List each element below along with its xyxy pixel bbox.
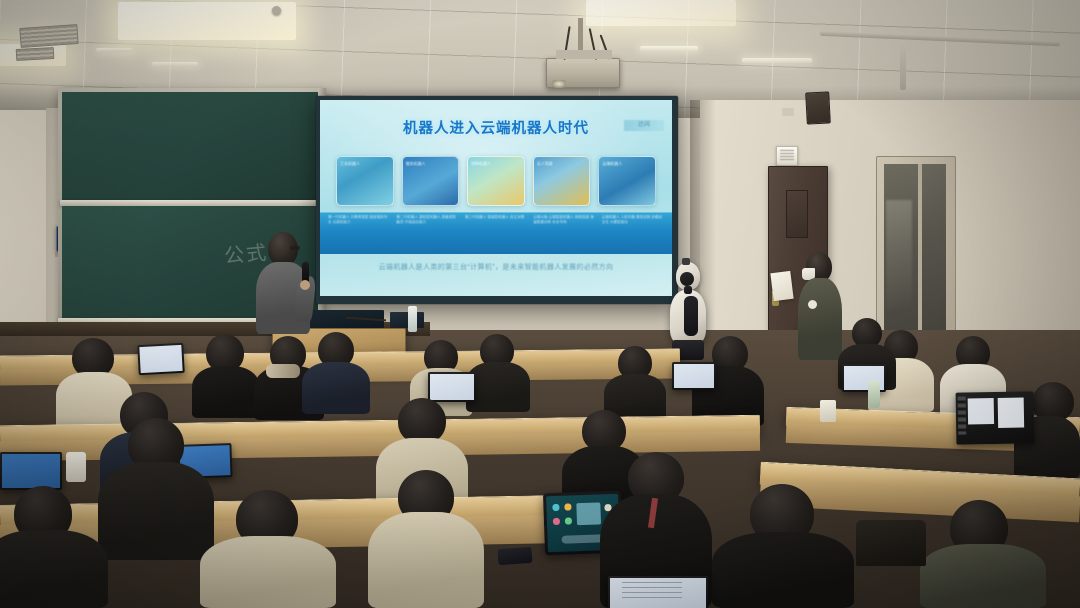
laptop-far-1-screen xyxy=(139,345,182,373)
slide-card-4-caption: 无人驾驶 xyxy=(537,161,587,166)
slide-title: 机器人进入云端机器人时代 xyxy=(320,117,672,138)
projected-slide: 机器人进入云端机器人时代 达闼 工业机器人 服务机器人 特种机器人 无人驾驶 云… xyxy=(320,100,672,296)
robot-chest-panel xyxy=(684,296,698,336)
laptop-right-doc-2 xyxy=(998,397,1025,427)
ceiling-light-panel-1 xyxy=(118,2,296,40)
student-body-f4 xyxy=(302,362,370,414)
tablet-icon-4[interactable] xyxy=(565,517,572,524)
ceiling-conduit-2 xyxy=(900,40,906,90)
laptop-middle-2[interactable] xyxy=(0,452,62,490)
sign-text-lines xyxy=(780,150,794,162)
ceiling-air-vent xyxy=(19,24,78,48)
laptop-right-two-docs[interactable] xyxy=(956,391,1035,444)
laptop-far-1[interactable] xyxy=(137,343,185,375)
exit-notice-sign xyxy=(776,146,798,166)
laptop-far-2-screen xyxy=(430,374,474,400)
student-body-f2 xyxy=(192,366,260,418)
tablet-icon-1[interactable] xyxy=(552,504,559,511)
student-body-n3 xyxy=(98,462,214,560)
slide-card-2: 服务机器人 xyxy=(402,156,460,206)
projector-lens xyxy=(552,80,566,88)
slide-card-3: 特种机器人 xyxy=(467,156,525,206)
tablet-icon-2[interactable] xyxy=(564,503,571,510)
phone-on-desk[interactable] xyxy=(497,547,532,565)
standing-attendee-badge xyxy=(808,300,817,309)
window-mullion xyxy=(918,164,922,356)
ceiling-tube-light-3 xyxy=(640,46,698,51)
laptop-right-doc-1 xyxy=(968,398,994,424)
standing-attendee-body xyxy=(798,278,842,360)
chalk-writing: 公式 xyxy=(223,236,269,269)
wall-speaker xyxy=(805,91,831,124)
chair-back-near xyxy=(856,520,926,566)
band-column-1: 第一代机器人 示教再现型 固定程序作业 无感知能力 xyxy=(328,215,390,251)
laptop-bottom-center-screen xyxy=(610,578,706,608)
laptop-middle-2-screen xyxy=(2,454,60,488)
sprinkler-head xyxy=(272,6,281,15)
door-notice-paper xyxy=(770,271,793,301)
laptop-right-sidebar xyxy=(958,397,967,435)
window-reflection xyxy=(886,200,912,310)
slide-footer-text: 云端机器人是人类的第三台“计算机”，是未来智能机器人发展的必然方向 xyxy=(320,262,672,272)
robot-camera-sensor xyxy=(682,258,690,265)
student-body-n5 xyxy=(712,532,854,608)
slide-card-1: 工业机器人 xyxy=(336,156,394,206)
water-bottle-on-lectern[interactable] xyxy=(408,306,417,332)
desk-cup-right[interactable] xyxy=(820,400,836,422)
laptop-bottom-doc-lines xyxy=(622,582,682,600)
student-body-n4 xyxy=(200,536,336,608)
slide-card-5: 云端机器人 xyxy=(598,156,656,206)
ceiling-tube-light-4 xyxy=(742,58,812,63)
band-column-5: 云端机器人 人机共融 柔性控制 多模态交互 大模型驱动 xyxy=(602,215,664,251)
ceiling-tube-light-1 xyxy=(96,48,132,52)
tablet-icon-3[interactable] xyxy=(553,518,560,525)
slide-card-5-caption: 云端机器人 xyxy=(602,161,652,166)
slide-card-1-caption: 工业机器人 xyxy=(340,161,390,166)
robot-face-screen xyxy=(680,272,694,286)
student-f3-scarf xyxy=(266,364,300,378)
band-column-3: 第三代机器人 智能型机器人 自主决策 xyxy=(465,215,527,251)
lectern-equipment-panel xyxy=(390,312,424,328)
tablet-widget-window[interactable] xyxy=(576,502,601,525)
robot-neck-joint xyxy=(684,286,692,294)
blackboard-upper-panel xyxy=(62,92,322,200)
desk-bottle-right[interactable] xyxy=(868,380,880,408)
laptop-far-3-screen xyxy=(674,364,714,388)
presenter-company-logo: 达闼 xyxy=(624,120,664,131)
ceiling-tube-light-2 xyxy=(152,62,198,66)
student-body-n6 xyxy=(0,530,108,608)
ceiling-air-vent-2 xyxy=(16,47,55,61)
band-column-4: 云端大脑 云端智能机器人 网络连接 海量数据训练 安全专网 xyxy=(533,215,595,251)
slide-card-2-caption: 服务机器人 xyxy=(406,161,456,166)
ceiling-mounted-sensor xyxy=(782,108,794,116)
projector-bracket xyxy=(556,50,612,59)
band-column-2: 第二代机器人 感知型机器人 具备视觉触觉 环境适应能力 xyxy=(396,215,458,251)
slide-band-columns: 第一代机器人 示教再现型 固定程序作业 无感知能力 第二代机器人 感知型机器人 … xyxy=(328,215,664,251)
laptop-bottom-center[interactable] xyxy=(608,576,708,608)
door-window xyxy=(786,190,808,238)
presenter-glasses xyxy=(290,246,300,250)
presenter-hand xyxy=(300,280,310,290)
slide-card-3-caption: 特种机器人 xyxy=(471,161,521,166)
student-body-n2 xyxy=(368,512,484,608)
slide-card-4: 无人驾驶 xyxy=(533,156,591,206)
laptop-far-3[interactable] xyxy=(672,362,716,390)
lecture-hall-photo: 公式 机器人进入云端机器人时代 达闼 工业机器人 服务机器人 特种机器人 无人驾… xyxy=(0,0,1080,608)
laptop-far-2[interactable] xyxy=(428,372,476,402)
ceiling-light-panel-3 xyxy=(586,0,736,26)
slide-image-cards: 工业机器人 服务机器人 特种机器人 无人驾驶 云端机器人 xyxy=(336,156,656,206)
student-body-n7 xyxy=(920,544,1046,608)
vacuum-flask[interactable] xyxy=(66,452,86,482)
